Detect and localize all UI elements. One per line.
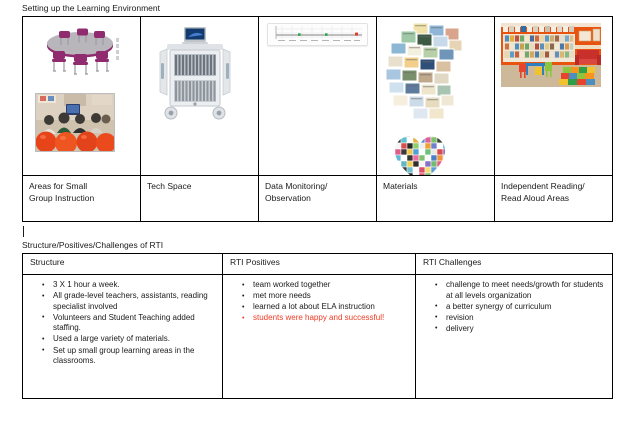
rti-structure-table: Structure RTI Positives RTI Challenges 3… [22, 253, 613, 399]
orange-library-reading-corner-photo [501, 23, 601, 87]
list-item: All grade-level teachers, assistants, re… [53, 291, 218, 312]
column-header-label: RTI Positives [230, 257, 415, 268]
list-item: team worked together [253, 280, 411, 291]
table-row [23, 17, 613, 176]
table-row: Areas for Small Group Instruction Tech S… [23, 176, 613, 222]
cell-label-line-2: Observation [265, 193, 370, 205]
bullet-list-rti-positives: team worked together met more needs lear… [227, 280, 411, 324]
cell-label-line-1: Areas for Small [29, 181, 134, 193]
label-cell-small-group: Areas for Small Group Instruction [23, 176, 141, 222]
table-header-row: Structure RTI Positives RTI Challenges [23, 254, 613, 275]
bullet-list-structure: 3 X 1 hour a week. All grade-level teach… [27, 280, 218, 367]
cell-label-line-1: Data Monitoring/ [265, 181, 370, 193]
label-cell-materials: Materials [377, 176, 495, 222]
label-cell-independent-reading: Independent Reading/ Read Aloud Areas [495, 176, 613, 222]
media-cell-materials [377, 17, 495, 176]
list-item: Used a large variety of materials. [53, 334, 218, 345]
column-header-label: Structure [30, 257, 222, 268]
students-on-exercise-balls-photo [35, 93, 115, 152]
cell-label-line-1: Materials [383, 181, 488, 193]
section-one-heading: Setting up the Learning Environment [22, 3, 160, 14]
laptop-charging-cart-photo [155, 25, 235, 125]
media-cell-tech-space [141, 17, 259, 176]
label-cell-tech-space: Tech Space [141, 176, 259, 222]
list-item: a better synergy of curriculum [446, 302, 608, 313]
cell-label-line-1: Independent Reading/ [501, 181, 606, 193]
text-cursor-caret [23, 226, 24, 237]
list-item: learned a lot about ELA instruction [253, 302, 411, 313]
list-item-highlighted: students were happy and successful! [253, 313, 411, 324]
body-cell-rti-positives: team worked together met more needs lear… [223, 275, 416, 399]
cell-label-line-2: Group Instruction [29, 193, 134, 205]
body-cell-rti-challenges: challenge to meet needs/growth for stude… [416, 275, 613, 399]
section-two-heading: Structure/Positives/Challenges of RTI [22, 240, 163, 251]
list-item: Set up small group learning areas in the… [53, 346, 218, 367]
cell-label-line-2: Read Aloud Areas [501, 193, 606, 205]
book-covers-collage-photo [383, 23, 465, 123]
list-item: challenge to meet needs/growth for stude… [446, 280, 608, 301]
table-row: 3 X 1 hour a week. All grade-level teach… [23, 275, 613, 399]
body-cell-structure: 3 X 1 hour a week. All grade-level teach… [23, 275, 223, 399]
media-cell-small-group [23, 17, 141, 176]
list-item: met more needs [253, 291, 411, 302]
list-item: 3 X 1 hour a week. [53, 280, 218, 291]
cell-label-line-1: Tech Space [147, 181, 252, 193]
media-cell-independent-reading [495, 17, 613, 176]
list-item: revision [446, 313, 608, 324]
learning-environment-table: Areas for Small Group Instruction Tech S… [22, 16, 613, 222]
column-header-label: RTI Challenges [423, 257, 612, 268]
bullet-list-rti-challenges: challenge to meet needs/growth for stude… [420, 280, 608, 334]
column-header-rti-challenges: RTI Challenges [416, 254, 613, 275]
column-header-structure: Structure [23, 254, 223, 275]
column-header-rti-positives: RTI Positives [223, 254, 416, 275]
app-icon-heart-graphic [389, 131, 451, 176]
media-cell-data-monitoring [259, 17, 377, 176]
data-monitoring-graph-screenshot [267, 23, 368, 46]
list-item: delivery [446, 324, 608, 335]
label-cell-data-monitoring: Data Monitoring/ Observation [259, 176, 377, 222]
purple-round-table-photo [37, 25, 123, 85]
list-item: Volunteers and Student Teaching added st… [53, 313, 218, 334]
